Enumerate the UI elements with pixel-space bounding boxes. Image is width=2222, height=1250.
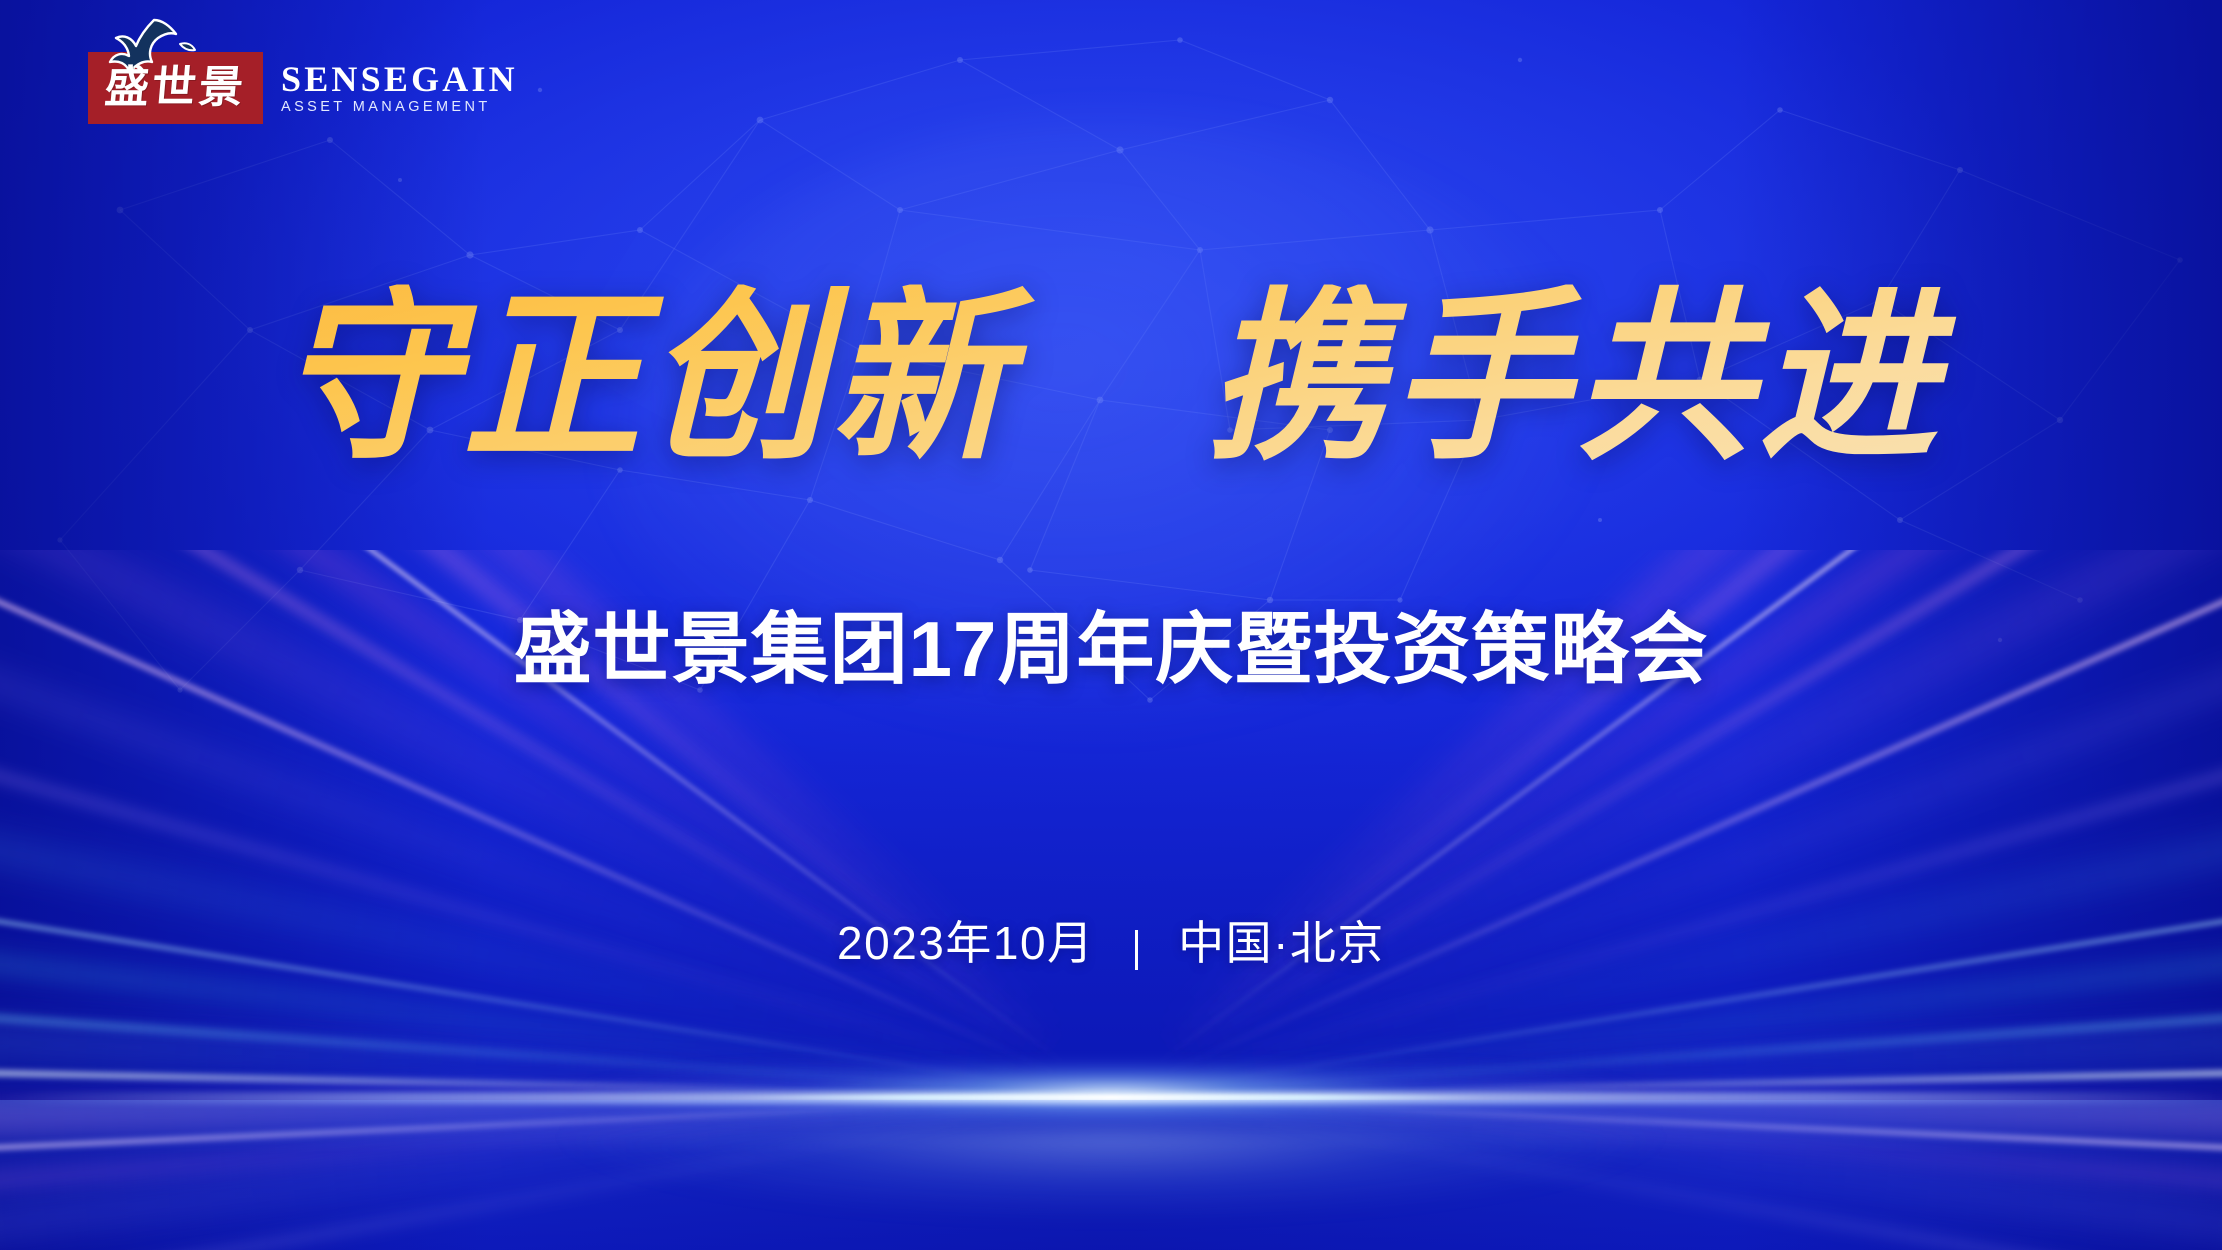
- headline-phrase-one: 守正创新: [279, 268, 1015, 485]
- brand-logo[interactable]: 盛世景 SENSEGAIN ASSET MANAGEMENT: [88, 52, 518, 124]
- headline-calligraphy: 守正创新 携手共进: [0, 284, 2222, 469]
- event-subtitle: 盛世景集团17周年庆暨投资策略会: [0, 610, 2222, 688]
- poster-canvas: 盛世景 SENSEGAIN ASSET MANAGEMENT 守正创新 携手共进…: [0, 0, 2222, 1250]
- headline-phrase-two: 携手共进: [1207, 268, 1943, 485]
- logo-seal-mark: 盛世景: [88, 52, 263, 124]
- logo-wordmark: SENSEGAIN ASSET MANAGEMENT: [281, 61, 518, 115]
- logo-brand-tagline: ASSET MANAGEMENT: [281, 100, 518, 115]
- dateline-separator-icon: [1135, 930, 1138, 970]
- event-date: 2023年10月: [837, 917, 1095, 969]
- logo-seal-characters: 盛世景: [103, 66, 248, 110]
- event-location: 中国·北京: [1178, 917, 1385, 969]
- event-dateline: 2023年10月 中国·北京: [0, 920, 2222, 967]
- logo-brand-name: SENSEGAIN: [281, 61, 518, 97]
- floor-sheen: [361, 1130, 1861, 1250]
